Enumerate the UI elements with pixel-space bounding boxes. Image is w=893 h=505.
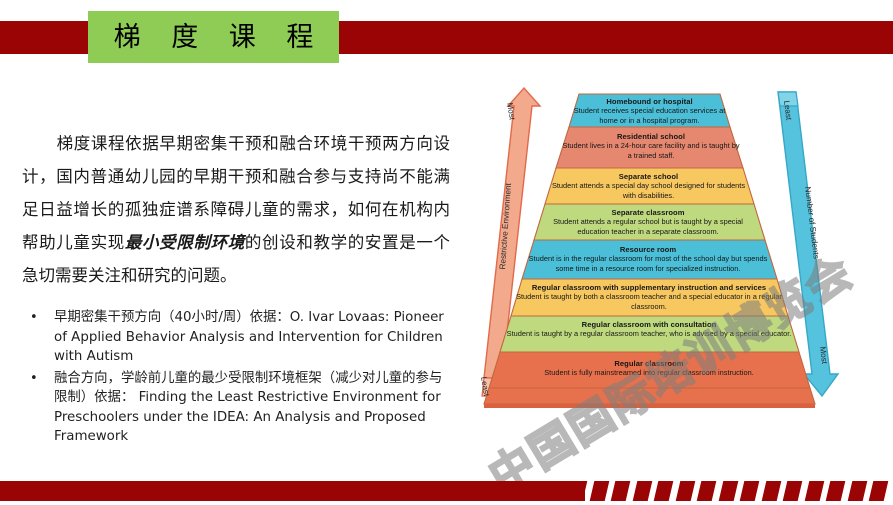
pyramid-base-shadow xyxy=(484,404,815,408)
tier-description: Student is in the regular classroom for … xyxy=(524,254,772,273)
list-item: • 融合方向，学龄前儿童的最少受限制环境框架（减少对儿童的参与限制）依据： Fi… xyxy=(22,369,454,447)
footer-stripe xyxy=(782,481,803,501)
tier-description: Student is taught by a regular classroom… xyxy=(504,329,794,338)
footer-red-band xyxy=(0,481,585,501)
footer-stripe xyxy=(631,481,652,501)
list-item: • 早期密集干预方向（40小时/周）依据：O. Ivar Lovaas: Pio… xyxy=(22,308,454,367)
footer-stripe xyxy=(760,481,781,501)
footer-stripe-group xyxy=(570,481,893,501)
tier-residential-school: Residential school Student lives in a 24… xyxy=(562,130,740,168)
tier-description: Student is taught by both a classroom te… xyxy=(514,292,784,311)
left-content-column: 梯度课程依据早期密集干预和融合环境干预两方向设计，国内普通幼儿园的早期干预和融合… xyxy=(0,110,468,463)
tier-description: Student receives special education servi… xyxy=(572,106,727,125)
footer-stripe xyxy=(570,481,588,501)
lre-continuum-diagram: Homebound or hospital Student receives s… xyxy=(462,78,893,418)
footer-stripe xyxy=(868,481,889,501)
tier-separate-classroom: Separate classroom Student attends a reg… xyxy=(538,207,758,240)
body-paragraph: 梯度课程依据早期密集干预和融合环境干预两方向设计，国内普通幼儿园的早期干预和融合… xyxy=(0,127,468,292)
paragraph-emphasis: 最小受限制环境 xyxy=(125,233,245,252)
footer-stripe xyxy=(717,481,738,501)
tier-separate-school: Separate school Student attends a specia… xyxy=(550,171,747,204)
tier-regular-classroom-consultation: Regular classroom with consultation Stud… xyxy=(504,319,794,352)
page-title: 梯 度 课 程 xyxy=(103,24,325,51)
tier-regular-classroom-supplementary: Regular classroom with supplementary ins… xyxy=(514,282,784,316)
tier-homebound-or-hospital: Homebound or hospital Student receives s… xyxy=(572,95,727,126)
footer-stripe xyxy=(825,481,846,501)
tier-title: Homebound or hospital xyxy=(572,97,727,106)
tier-description: Student is fully mainstreamed into regul… xyxy=(494,368,804,377)
footer-stripe xyxy=(653,481,674,501)
tier-title: Separate school xyxy=(550,172,747,181)
pyramid-base-extrusion xyxy=(484,388,815,404)
tier-title: Resource room xyxy=(524,245,772,254)
tier-description: Student attends a regular school but is … xyxy=(538,217,758,236)
footer-stripe xyxy=(846,481,867,501)
footer-stripe xyxy=(696,481,717,501)
bullet-marker-icon: • xyxy=(30,369,38,389)
tier-title: Regular classroom xyxy=(494,359,804,368)
tier-description: Student attends a special day school des… xyxy=(550,181,747,200)
list-item-text: 早期密集干预方向（40小时/周）依据：O. Ivar Lovaas: Pione… xyxy=(54,310,444,364)
tier-title: Separate classroom xyxy=(538,208,758,217)
footer-stripe xyxy=(674,481,695,501)
footer-stripe xyxy=(803,481,824,501)
bullet-marker-icon: • xyxy=(30,308,38,328)
right-arrow-bottom-label: Most xyxy=(818,346,829,364)
footer-stripe xyxy=(610,481,631,501)
tier-title: Residential school xyxy=(562,132,740,141)
bullet-list: • 早期密集干预方向（40小时/周）依据：O. Ivar Lovaas: Pio… xyxy=(0,308,468,447)
tier-regular-classroom: Regular classroom Student is fully mains… xyxy=(494,358,804,386)
tier-title: Regular classroom with supplementary ins… xyxy=(514,283,784,292)
slide-title-box: 梯 度 课 程 xyxy=(88,11,339,63)
list-item-text: 融合方向，学龄前儿童的最少受限制环境框架（减少对儿童的参与限制）依据： Find… xyxy=(54,371,442,445)
footer-stripe xyxy=(588,481,609,501)
tier-resource-room: Resource room Student is in the regular … xyxy=(524,244,772,279)
tier-description: Student lives in a 24-hour care facility… xyxy=(562,141,740,160)
tier-title: Regular classroom with consultation xyxy=(504,320,794,329)
footer-stripe xyxy=(739,481,760,501)
